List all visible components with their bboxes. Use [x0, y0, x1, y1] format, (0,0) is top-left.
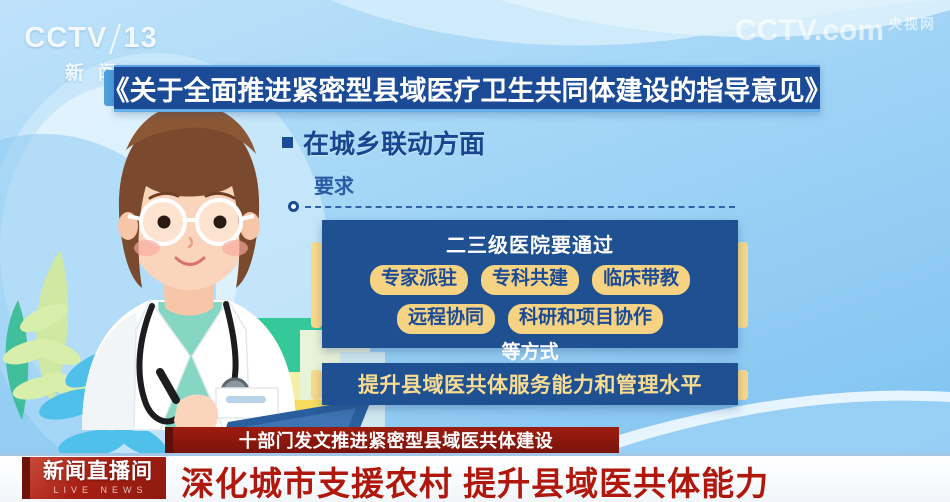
methods-content-box: 二三级医院要通过 专家派驻 专科共建 临床带教 远程协同 科研和项目协作 等方式	[322, 220, 738, 348]
methods-heading: 二三级医院要通过	[322, 229, 738, 258]
program-name-cn: 新闻直播间	[43, 461, 153, 482]
section-bullet: 在城乡联动方面	[282, 124, 485, 161]
square-bullet-icon	[282, 137, 293, 148]
dashed-connector-line	[305, 206, 735, 208]
broadcast-screen: CCTV 13 新闻 CCTV.com 央视网 《关于全面推进紧密型县域医疗卫生…	[0, 0, 950, 502]
document-title-text: 《关于全面推进紧密型县域医疗卫生共同体建设的指导意见》	[103, 69, 832, 108]
methods-footer: 等方式	[322, 337, 738, 364]
method-tag: 临床带教	[590, 263, 692, 297]
subtitle-strip-cap	[165, 427, 173, 453]
method-tag: 专家派驻	[368, 263, 470, 297]
lower-third-headline: 深化城市支援农村 提升县域医共体能力	[181, 457, 769, 502]
requirement-label: 要求	[314, 170, 354, 199]
method-tag: 专科共建	[479, 263, 581, 297]
box2-accent-bar-right	[737, 370, 748, 400]
program-name-en: LIVE NEWS	[48, 485, 147, 495]
program-logo: 新闻直播间 LIVE NEWS	[30, 457, 166, 499]
methods-pill-row-1: 专家派驻 专科共建 临床带教	[322, 263, 738, 297]
lower-third-subtitle-text: 十部门发文推进紧密型县域医共体建设	[239, 427, 554, 453]
lower-third-subtitle: 十部门发文推进紧密型县域医共体建设	[173, 427, 619, 453]
method-tag: 远程协同	[395, 302, 497, 336]
goal-content-box: 提升县域医共体服务能力和管理水平	[322, 363, 738, 405]
document-title-banner: 《关于全面推进紧密型县域医疗卫生共同体建设的指导意见》	[114, 65, 820, 112]
connector-dot-icon	[288, 201, 299, 212]
box1-accent-bar-right	[737, 242, 748, 328]
box2-accent-bar-left	[311, 370, 322, 400]
section-bullet-label: 在城乡联动方面	[303, 124, 485, 161]
goal-text: 提升县域医共体服务能力和管理水平	[322, 363, 738, 405]
box1-accent-bar-left	[311, 242, 322, 328]
method-tag: 科研和项目协作	[506, 302, 665, 336]
methods-pill-row-2: 远程协同 科研和项目协作	[322, 302, 738, 336]
